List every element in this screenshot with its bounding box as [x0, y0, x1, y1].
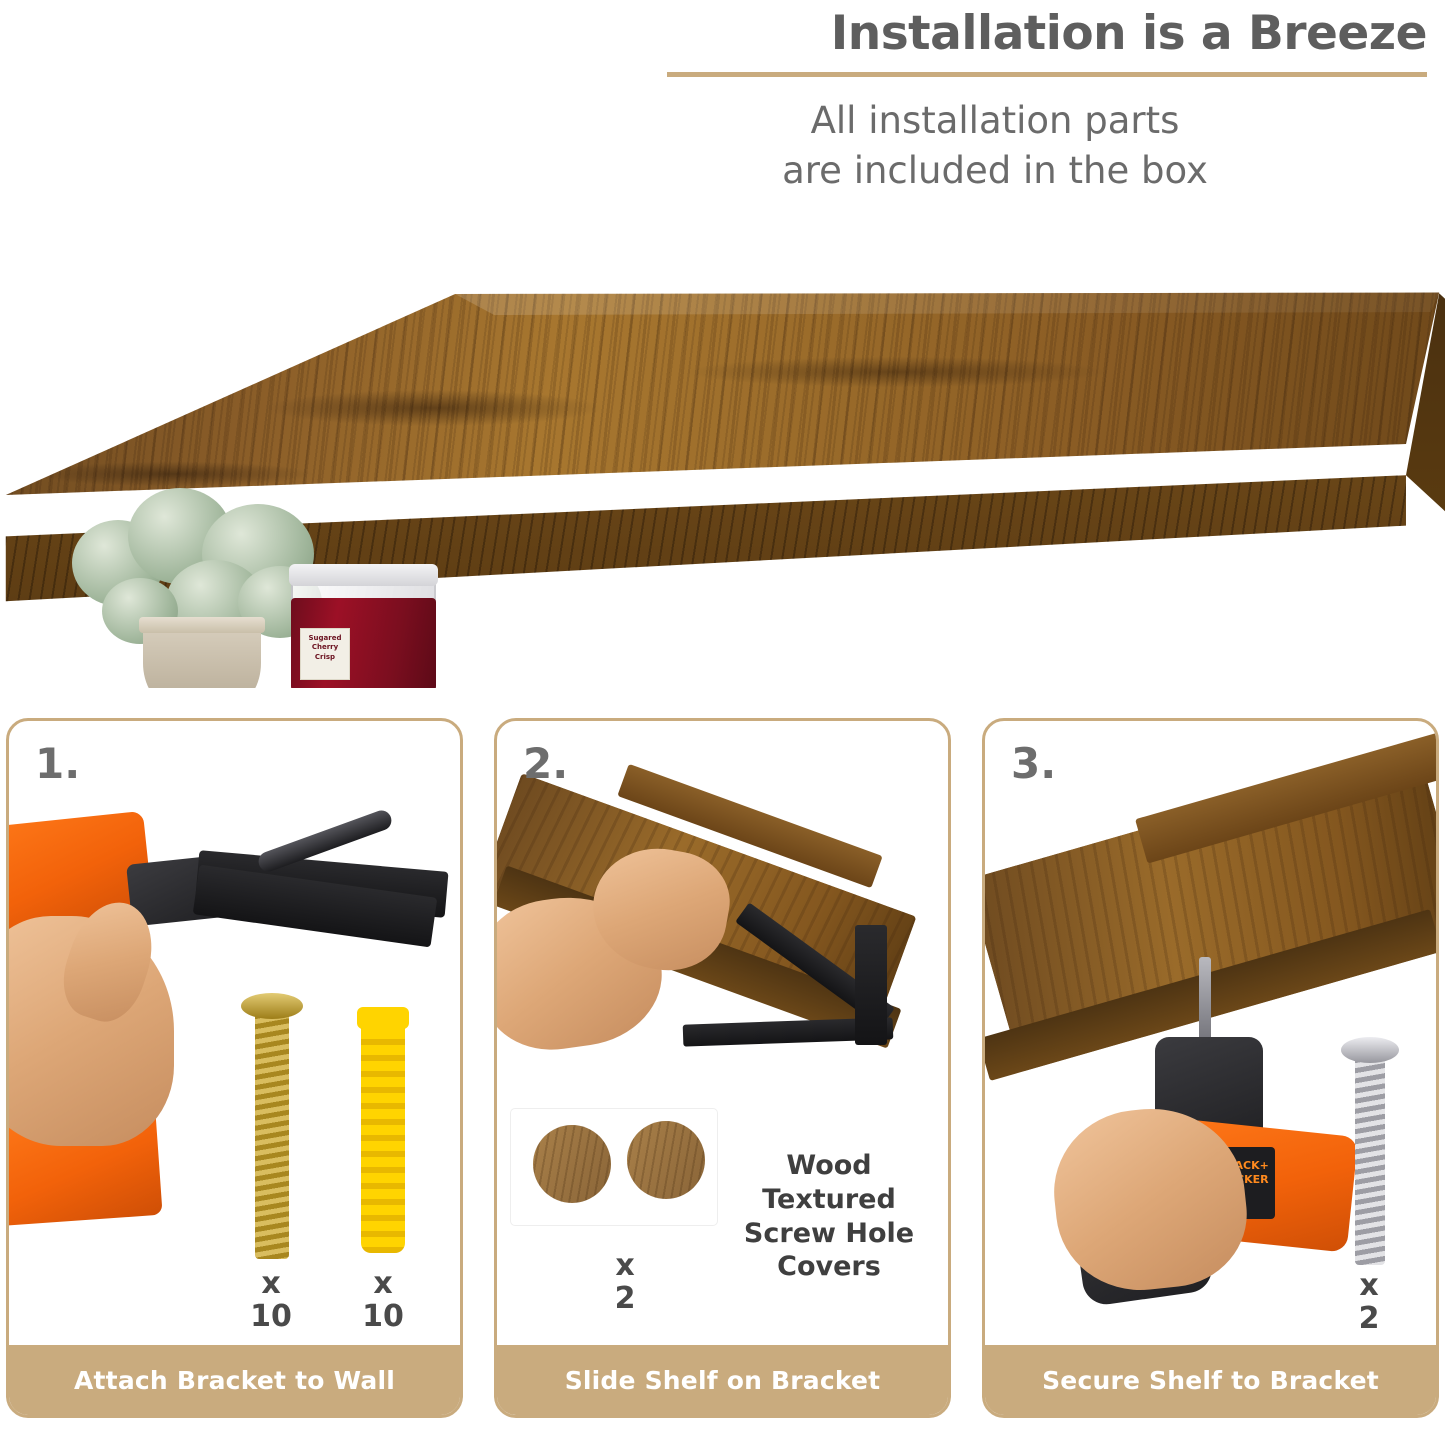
step-3-illustration: BLACK+ DECKER x 2 [985, 721, 1436, 1351]
cover-description-line-4: Covers [719, 1250, 939, 1284]
cover-description-line-3: Screw Hole [719, 1217, 939, 1251]
qty-label: x [261, 1266, 280, 1301]
candle-label-line-1: Sugared [301, 634, 349, 643]
qty-label: x [1359, 1268, 1378, 1303]
step-card-3: 3. BLACK+ DECKER [982, 718, 1439, 1418]
mounted-bracket-plate [855, 925, 887, 1045]
cover-description: Wood Textured Screw Hole Covers [719, 1149, 939, 1284]
header-subtitle: All installation parts are included in t… [625, 96, 1365, 196]
step-caption-1: Attach Bracket to Wall [9, 1345, 460, 1415]
screw-quantity-3: x 2 [1319, 1269, 1419, 1335]
step-1-illustration: x 10 x 10 [9, 721, 460, 1351]
step-caption-2: Slide Shelf on Bracket [497, 1345, 948, 1415]
cover-description-line-1: Wood [719, 1149, 939, 1183]
installation-steps: 1. x 10 [0, 718, 1445, 1418]
header-subtitle-line-1: All installation parts [625, 96, 1365, 146]
screw-quantity-1: x 10 [221, 1267, 321, 1333]
step-card-1: 1. x 10 [6, 718, 463, 1418]
header-subtitle-line-2: are included in the box [625, 146, 1365, 196]
screw-hole-cover-1 [533, 1125, 611, 1203]
hero-product-photo: Sugared Cherry Crisp [0, 228, 1445, 688]
cover-description-line-2: Textured [719, 1183, 939, 1217]
screw-head-3 [1341, 1037, 1399, 1063]
screw-part-3 [1355, 1053, 1385, 1265]
wall-anchor-part [361, 1013, 405, 1253]
screw-head-1 [241, 993, 303, 1019]
page-title: Installation is a Breeze [831, 8, 1427, 60]
step-caption-3: Secure Shelf to Bracket [985, 1345, 1436, 1415]
header: Installation is a Breeze All installatio… [0, 0, 1445, 230]
step-number-1: 1. [35, 739, 80, 788]
step-2-illustration: x 2 Wood Textured Screw Hole Covers [497, 721, 948, 1351]
candle-label-line-2: Cherry [301, 643, 349, 652]
step-number-3: 3. [1011, 739, 1056, 788]
candle-lid [289, 564, 438, 586]
candle-label: Sugared Cherry Crisp [300, 628, 350, 680]
plant-pot [143, 623, 261, 688]
qty-label: x [373, 1266, 392, 1301]
anchor-quantity: x 10 [333, 1267, 433, 1333]
qty-value: 2 [1359, 1301, 1380, 1336]
title-underline [667, 72, 1427, 77]
product-infographic: Installation is a Breeze All installatio… [0, 0, 1445, 1438]
qty-value: 10 [362, 1299, 404, 1334]
step-card-2: 2. x 2 [494, 718, 951, 1418]
step-number-2: 2. [523, 739, 568, 788]
qty-value: 10 [250, 1299, 292, 1334]
candle-label-line-3: Crisp [301, 653, 349, 662]
qty-value: 2 [615, 1281, 636, 1316]
screw-hole-cover-2 [627, 1121, 705, 1199]
screw-part-1 [255, 1009, 289, 1259]
cover-quantity: x 2 [575, 1249, 675, 1315]
qty-label: x [615, 1248, 634, 1283]
anchor-head [357, 1007, 409, 1029]
